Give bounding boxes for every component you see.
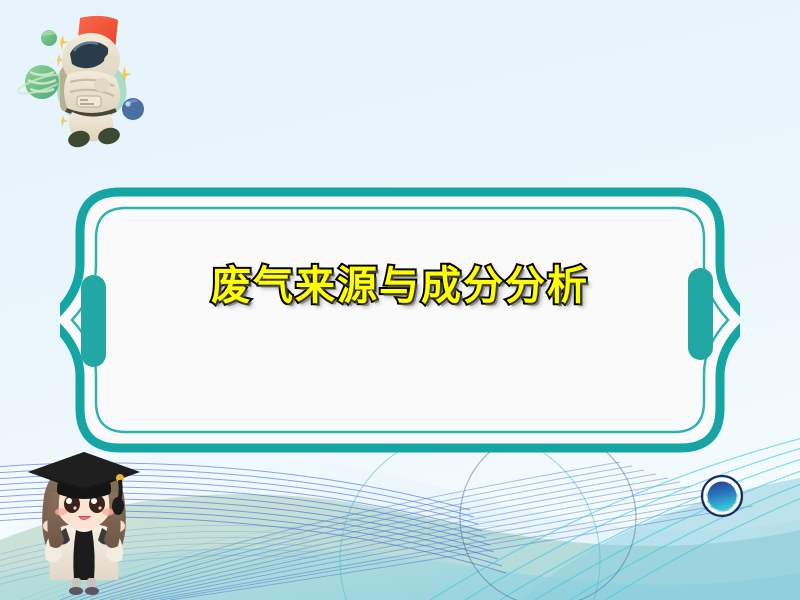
frame-right-pill-bar	[688, 268, 713, 360]
planet-blue	[122, 98, 144, 120]
frame-left-pill-bar	[81, 275, 106, 367]
graduate-girl-icon	[14, 444, 154, 596]
planet-small-green	[41, 30, 57, 46]
title-frame	[60, 186, 740, 454]
gradient-ring-accent	[700, 474, 744, 518]
slide-canvas: 废气来源与成分分析	[0, 0, 800, 600]
astronaut-with-flag-icon	[8, 6, 183, 156]
frame-outer-border	[60, 192, 740, 448]
